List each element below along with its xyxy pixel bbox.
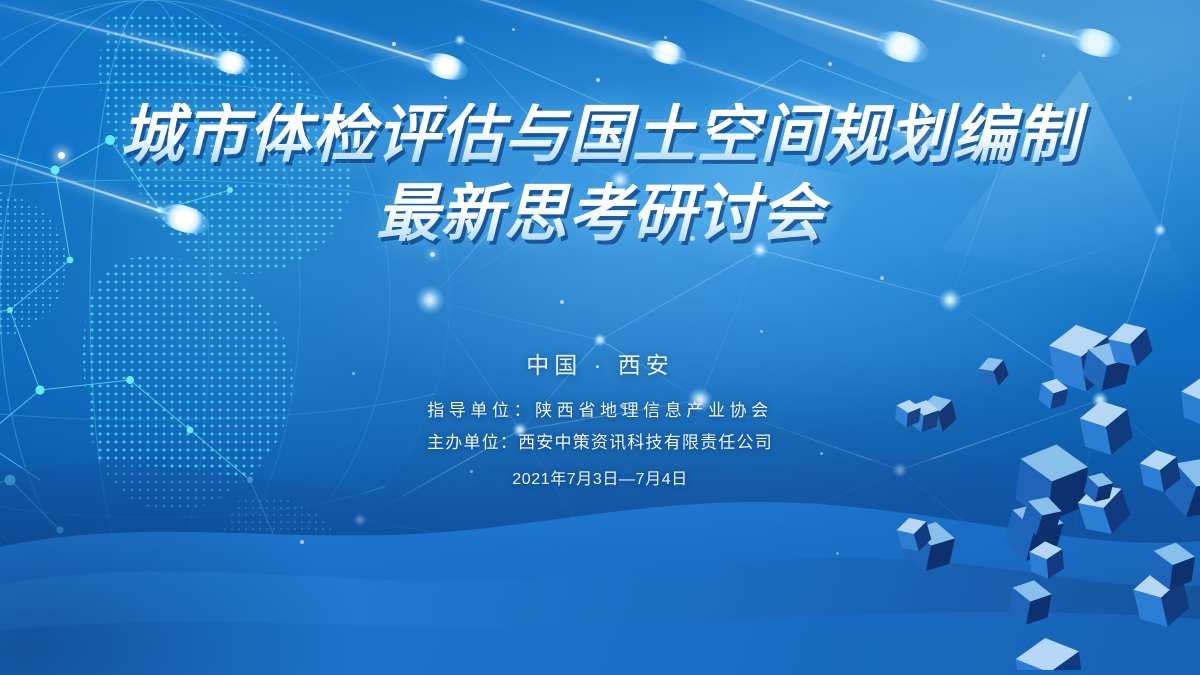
poster-title: 城市体检评估与国土空间规划编制 最新思考研讨会 [0,103,1200,245]
poster-canvas: 城市体检评估与国土空间规划编制 最新思考研讨会 中国 · 西安 指导单位：陕西省… [0,0,1200,675]
title-line-2: 最新思考研讨会 [0,182,1200,245]
organizer-unit: 主办单位：西安中策资讯科技有限责任公司 [427,428,773,453]
poster-content: 城市体检评估与国土空间规划编制 最新思考研讨会 中国 · 西安 指导单位：陕西省… [0,0,1200,675]
guidance-unit: 指导单位：陕西省地理信息产业协会 [427,396,773,421]
event-date: 2021年7月3日—7月4日 [512,465,688,489]
title-line-1: 城市体检评估与国土空间规划编制 [0,103,1200,166]
event-location: 中国 · 西安 [526,346,673,380]
